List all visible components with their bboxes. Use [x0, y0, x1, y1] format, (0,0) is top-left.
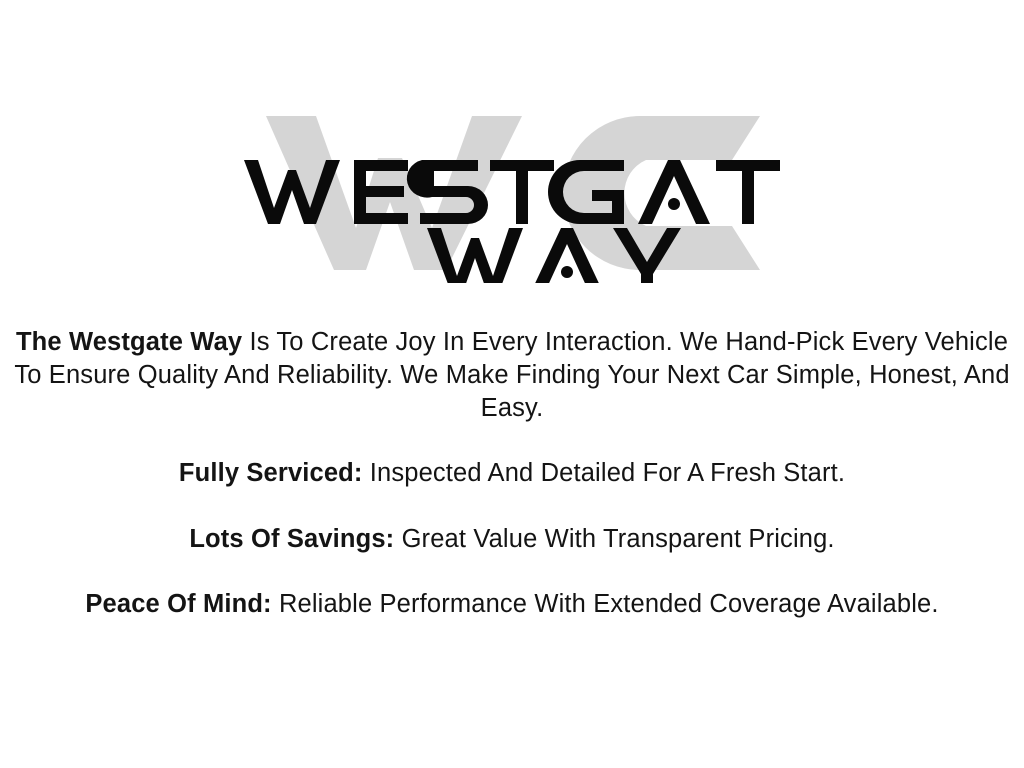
- feature-fully-serviced: Fully Serviced: Inspected And Detailed F…: [14, 457, 1010, 490]
- westgate-way-logo-svg: [232, 98, 792, 283]
- spacer-3: [14, 556, 1010, 588]
- intro-lead: The Westgate Way: [16, 328, 242, 356]
- feature-tag-peace-of-mind: Peace Of Mind:: [85, 590, 271, 618]
- intro-paragraph: The Westgate Way Is To Create Joy In Eve…: [14, 326, 1010, 425]
- feature-text-fully-serviced: Inspected And Detailed For A Fresh Start…: [363, 459, 846, 487]
- feature-lots-of-savings: Lots Of Savings: Great Value With Transp…: [14, 523, 1010, 556]
- copy-block: The Westgate Way Is To Create Joy In Eve…: [0, 326, 1024, 621]
- spacer-2: [14, 490, 1010, 523]
- feature-text-lots-of-savings: Great Value With Transparent Pricing.: [394, 525, 834, 553]
- feature-tag-fully-serviced: Fully Serviced:: [179, 459, 363, 487]
- promo-page: The Westgate Way Is To Create Joy In Eve…: [0, 0, 1024, 768]
- feature-text-peace-of-mind: Reliable Performance With Extended Cover…: [272, 590, 939, 618]
- feature-tag-lots-of-savings: Lots Of Savings:: [189, 525, 394, 553]
- spacer-1: [14, 425, 1010, 457]
- feature-peace-of-mind: Peace Of Mind: Reliable Performance With…: [14, 588, 1010, 621]
- brand-logo: [0, 98, 1024, 283]
